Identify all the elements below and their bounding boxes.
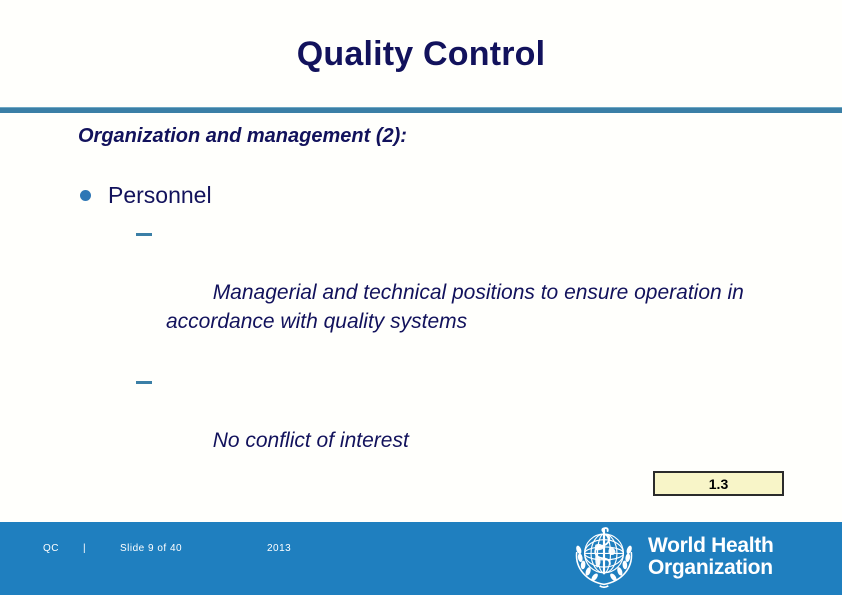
sub-list-item: Managerial and technical positions to en… [136,220,798,365]
who-wordmark-line1: World Health [648,535,774,557]
footer-separator: | [83,543,86,554]
sub-list-item: No conflict of interest [136,368,798,484]
footer-course-code: QC [43,543,59,554]
page-title: Quality Control [0,33,842,75]
sub-bullet-list: Managerial and technical positions to en… [136,220,798,484]
title-divider [0,107,842,113]
footer-slide-counter: Slide 9 of 40 [120,543,182,554]
sub-list-item-label: No conflict of interest [213,429,409,452]
section-subtitle: Organization and management (2): [78,125,407,148]
slide: Quality Control Organization and managem… [0,0,842,595]
list-item: Personnel [78,180,798,210]
bullet-dot-icon [80,190,91,201]
reference-badge: 1.3 [653,471,784,496]
list-item-label: Personnel [108,182,212,208]
reference-badge-label: 1.3 [709,476,728,492]
who-emblem-icon [568,521,640,593]
sub-list-item-label: Managerial and technical positions to en… [166,281,756,333]
bullet-dash-icon [136,381,152,384]
who-wordmark: World Health Organization [648,535,774,579]
who-logo: World Health Organization [568,521,838,593]
footer-year: 2013 [267,543,291,554]
bullet-dash-icon [136,233,152,236]
who-wordmark-line2: Organization [648,557,774,579]
